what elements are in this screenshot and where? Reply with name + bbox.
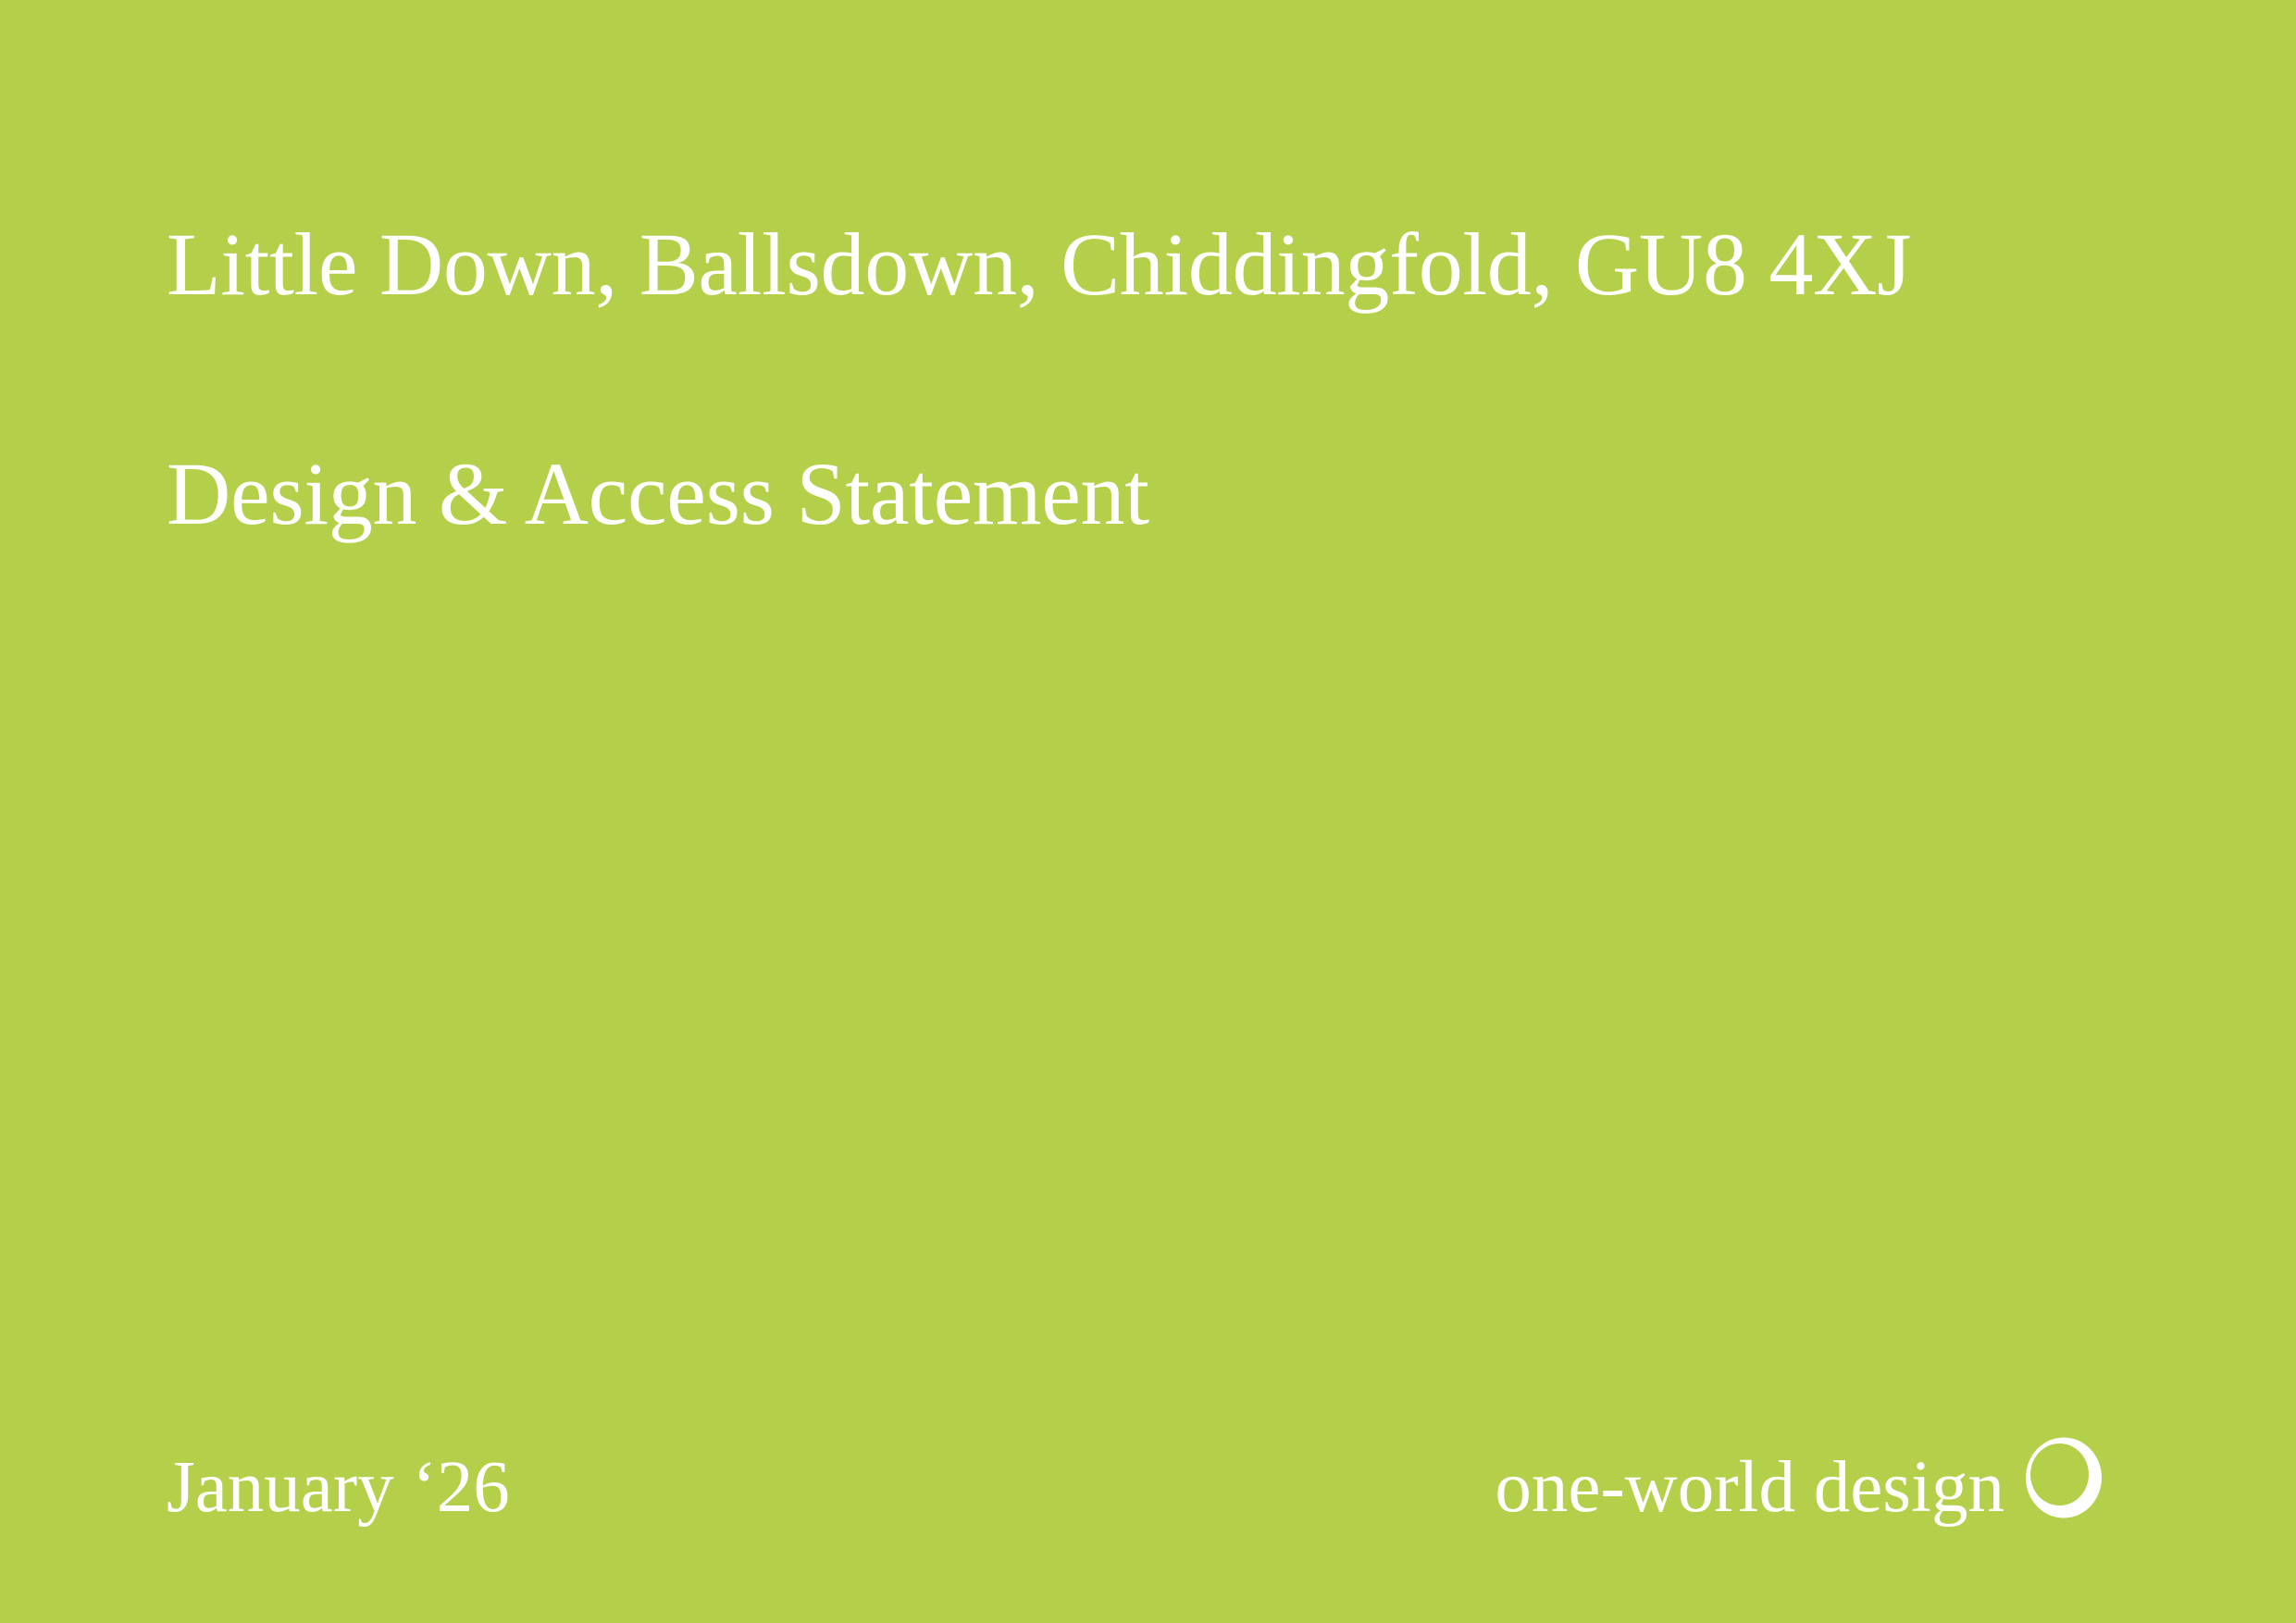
heading-block: Little Down, Ballsdown, Chiddingfold, GU… — [167, 163, 2128, 539]
brand-name: one-world design — [1495, 1451, 2004, 1524]
brand-lockup: one-world design — [1495, 1430, 2103, 1524]
cover-page: Little Down, Ballsdown, Chiddingfold, GU… — [0, 0, 2296, 1623]
page-subtitle: Design & Access Statement — [167, 309, 2128, 539]
cover-footer: January ‘26 one-world design — [167, 1441, 2129, 1524]
crescent-ring-icon — [2025, 1437, 2103, 1518]
page-title: Little Down, Ballsdown, Chiddingfold, GU… — [167, 163, 2128, 309]
document-date: January ‘26 — [167, 1451, 510, 1524]
